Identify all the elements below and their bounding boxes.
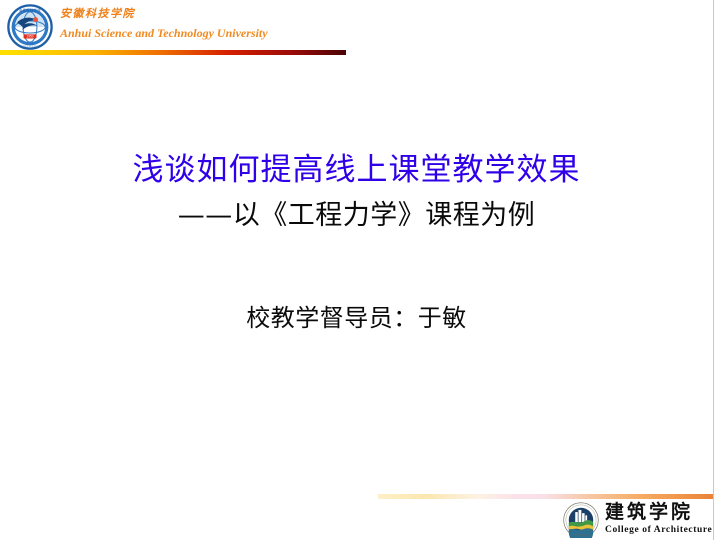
college-name-group: 建筑学院 College of Architecture bbox=[605, 502, 717, 536]
college-name-cn: 建筑学院 bbox=[605, 502, 717, 524]
college-brand: ARCHITECTURE 建筑学院 College of Architectur… bbox=[563, 502, 713, 540]
university-name-group: 安徽科技学院 Anhui Science and Technology Univ… bbox=[60, 7, 360, 41]
title-block: 浅谈如何提高线上课堂教学效果 ——以《工程力学》课程为例 bbox=[0, 148, 713, 236]
college-of-architecture-logo-icon: ARCHITECTURE bbox=[563, 502, 599, 538]
slide-main-title: 浅谈如何提高线上课堂教学效果 bbox=[0, 148, 713, 192]
slide-header: 1950 安徽科技学院 ANHUI SCI-TECH 安徽科技学院 Anhui … bbox=[0, 0, 380, 56]
university-name-cn: 安徽科技学院 bbox=[60, 7, 360, 22]
anhui-science-technology-university-logo-icon: 1950 安徽科技学院 ANHUI SCI-TECH bbox=[7, 4, 53, 50]
svg-text:1950: 1950 bbox=[26, 35, 33, 39]
university-name-en: Anhui Science and Technology University bbox=[60, 25, 360, 41]
presenter-line: 校教学督导员：于敏 bbox=[0, 298, 713, 333]
slide-sub-title: ——以《工程力学》课程为例 bbox=[0, 196, 713, 236]
bottom-gradient-divider bbox=[378, 494, 713, 499]
presentation-slide: 1950 安徽科技学院 ANHUI SCI-TECH 安徽科技学院 Anhui … bbox=[0, 0, 721, 540]
college-name-en: College of Architecture bbox=[605, 524, 717, 536]
top-gradient-divider bbox=[0, 50, 346, 55]
slide-right-border bbox=[713, 0, 714, 540]
svg-text:安徽科技学院: 安徽科技学院 bbox=[19, 7, 41, 12]
